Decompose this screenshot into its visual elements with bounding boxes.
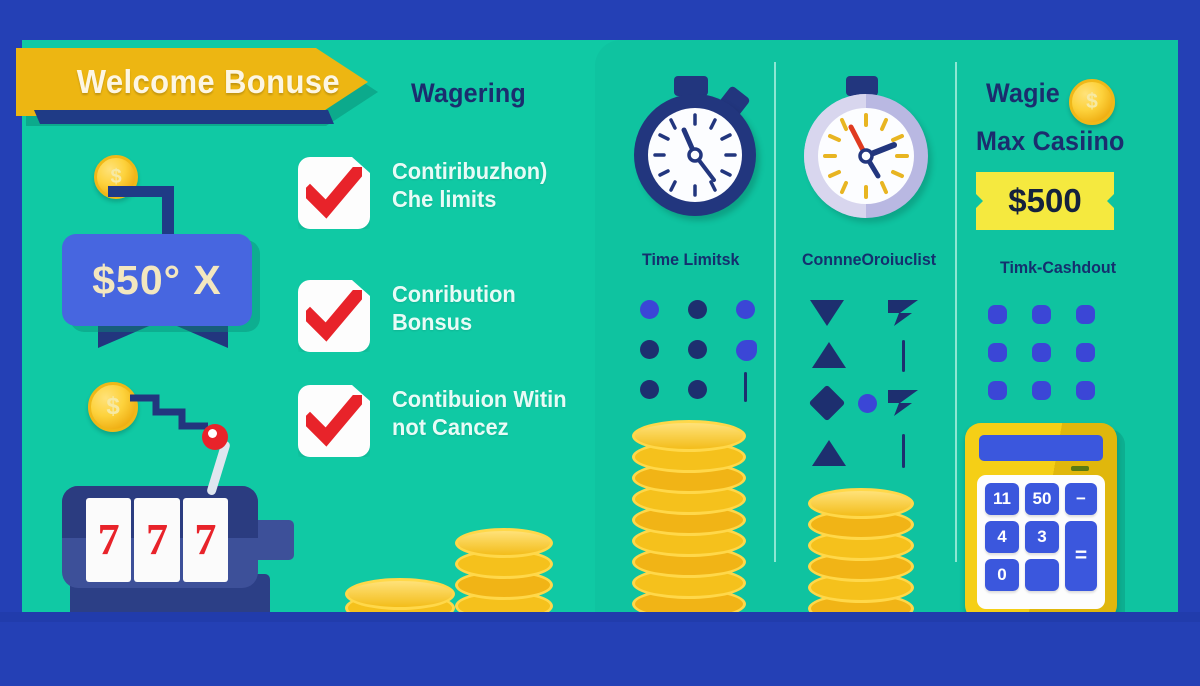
calc-key-4[interactable]: 4 bbox=[985, 521, 1019, 553]
diamond-shape bbox=[809, 385, 846, 422]
slot-lever-knob[interactable] bbox=[202, 424, 228, 450]
floor-shadow-band bbox=[0, 612, 1200, 622]
stopwatch-dial bbox=[648, 108, 742, 202]
dot bbox=[640, 300, 659, 319]
checkbox-checked-icon[interactable] bbox=[298, 280, 370, 352]
triangle-up bbox=[812, 342, 846, 368]
flag-shape bbox=[888, 300, 918, 326]
checklist-label-line2: Che limits bbox=[392, 185, 547, 213]
reel-symbol: 7 bbox=[194, 518, 216, 562]
calc-key-3[interactable]: 3 bbox=[1025, 521, 1059, 553]
reel-symbol: 7 bbox=[146, 518, 168, 562]
slot-machine: 7 7 7 bbox=[62, 468, 280, 628]
calculator-keypad: 11 50 − 4 3 0 = bbox=[977, 475, 1105, 609]
dot bbox=[736, 300, 755, 319]
badge-plate: $50° X bbox=[62, 234, 252, 326]
checklist-label: Conribution Bonsus bbox=[392, 280, 516, 336]
stopwatch-dial bbox=[818, 108, 914, 204]
stopwatch-crown bbox=[846, 76, 878, 96]
bar bbox=[902, 340, 905, 372]
banner-title: Welcome Bonuse bbox=[26, 63, 340, 101]
welcome-banner: Welcome Bonuse bbox=[16, 48, 376, 120]
max-casino-heading-line1: Wagie bbox=[986, 78, 1060, 109]
conditions-label: ConnneOroiuclist bbox=[802, 250, 936, 270]
bar bbox=[744, 372, 747, 402]
checkbox-checked-icon[interactable] bbox=[298, 157, 370, 229]
leaf-shape bbox=[736, 340, 757, 361]
checklist-label: Contibuion Witin not Cancez bbox=[392, 385, 567, 441]
dot bbox=[688, 340, 707, 359]
slot-reel: 7 bbox=[183, 498, 228, 582]
checklist-item-2[interactable]: Conribution Bonsus bbox=[298, 280, 522, 352]
column-divider-2 bbox=[955, 62, 957, 562]
rounded-square bbox=[1032, 305, 1051, 324]
floor-blue bbox=[0, 612, 1200, 686]
rounded-square bbox=[988, 343, 1007, 362]
calc-key-11[interactable]: 11 bbox=[985, 483, 1019, 515]
slot-reel: 7 bbox=[86, 498, 131, 582]
checkbox-checked-icon[interactable] bbox=[298, 385, 370, 457]
flag-shape bbox=[888, 390, 918, 416]
rounded-square bbox=[1076, 381, 1095, 400]
triangle-up bbox=[812, 440, 846, 466]
checklist-label-line1: Contibuion Witin bbox=[392, 385, 567, 413]
stopwatch-icon-conditions bbox=[798, 76, 928, 226]
banner-ribbon: Welcome Bonuse bbox=[16, 48, 368, 116]
coin-symbol-slot: $ bbox=[106, 393, 119, 421]
stopwatch-crown bbox=[674, 76, 708, 96]
dot bbox=[640, 340, 659, 359]
slot-reels: 7 7 7 bbox=[86, 498, 228, 582]
rounded-square bbox=[988, 381, 1007, 400]
calc-key-blank[interactable] bbox=[1025, 559, 1059, 591]
reel-symbol: 7 bbox=[98, 518, 120, 562]
rounded-square bbox=[1032, 343, 1051, 362]
max-casino-heading-line2: Max Casiino bbox=[976, 126, 1125, 157]
wagering-heading: Wagering bbox=[411, 78, 526, 109]
check-mark-icon bbox=[306, 167, 362, 219]
checklist-label: Contiribuzhon) Che limits bbox=[392, 157, 547, 213]
slot-side-knob bbox=[252, 520, 294, 560]
check-mark-icon bbox=[306, 290, 362, 342]
calculator-display bbox=[979, 435, 1103, 461]
time-limits-label: Time Limitsk bbox=[642, 250, 739, 270]
rounded-square bbox=[988, 305, 1007, 324]
dot bbox=[688, 300, 707, 319]
rounded-square bbox=[1076, 305, 1095, 324]
checklist-item-3[interactable]: Contibuion Witin not Cancez bbox=[298, 385, 576, 457]
shape-grid-dots bbox=[640, 300, 760, 400]
calculator[interactable]: 11 50 − 4 3 0 = bbox=[965, 423, 1117, 621]
coin-icon-heading: $ bbox=[1069, 79, 1115, 125]
calc-key-0[interactable]: 0 bbox=[985, 559, 1019, 591]
column-divider-1 bbox=[774, 62, 776, 562]
dot bbox=[688, 380, 707, 399]
rounded-square bbox=[1032, 381, 1051, 400]
cashout-label: Timk-Cashdout bbox=[1000, 258, 1116, 278]
dot bbox=[640, 380, 659, 399]
checklist-label-line2: Bonsus bbox=[392, 308, 516, 336]
checklist-item-1[interactable]: Contiribuzhon) Che limits bbox=[298, 157, 556, 229]
checklist-label-line2: not Cancez bbox=[392, 413, 567, 441]
checklist-label-line1: Contiribuzhon) bbox=[392, 157, 547, 185]
calc-key-equals[interactable]: = bbox=[1065, 521, 1097, 591]
slot-reel: 7 bbox=[134, 498, 179, 582]
calculator-indicator-icon bbox=[1071, 466, 1089, 471]
shape-grid-geometric bbox=[810, 300, 940, 480]
rounded-square bbox=[1076, 343, 1095, 362]
calc-key-minus[interactable]: − bbox=[1065, 483, 1097, 515]
banner-tail bbox=[34, 110, 334, 124]
bonus-amount-badge: $50° X bbox=[62, 186, 262, 346]
ticket-amount: $500 bbox=[1008, 182, 1081, 220]
infographic-canvas: Welcome Bonuse $ $50° X $ 7 7 bbox=[0, 0, 1200, 686]
dot bbox=[858, 394, 877, 413]
shape-grid-squares bbox=[988, 305, 1098, 405]
triangle-down bbox=[810, 300, 844, 326]
checklist-label-line1: Conribution bbox=[392, 280, 516, 308]
coin-symbol-heading: $ bbox=[1086, 90, 1098, 114]
calc-key-50[interactable]: 50 bbox=[1025, 483, 1059, 515]
badge-value: $50° X bbox=[92, 257, 222, 304]
bar bbox=[902, 434, 905, 468]
max-cashout-ticket: $500 bbox=[976, 172, 1114, 230]
check-mark-icon bbox=[306, 395, 362, 447]
stopwatch-icon-time-limits bbox=[626, 76, 756, 226]
